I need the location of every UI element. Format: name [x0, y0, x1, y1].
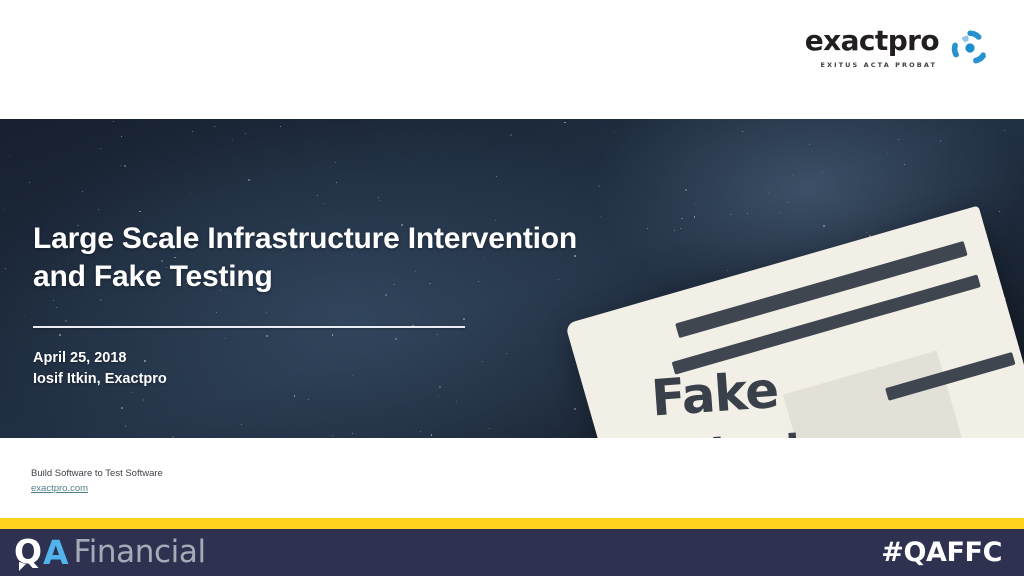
newspaper-headline-line1: Fake — [616, 367, 780, 424]
star-dot — [3, 209, 4, 210]
newspaper-headline: Testing! — [615, 428, 804, 438]
star-dot — [823, 225, 825, 227]
star-dot — [598, 185, 600, 187]
star-dot — [120, 165, 121, 166]
star-dot — [792, 175, 793, 176]
star-dot — [647, 228, 648, 229]
star-dot — [904, 164, 905, 165]
header-logo-strip: exactpro EXITUS ACTA PROBAT — [0, 0, 1024, 119]
star-dot — [245, 133, 246, 134]
star-dot — [564, 122, 565, 123]
event-hashtag: #QAFFC — [881, 537, 1002, 568]
event-footer-bar: Q A Financial #QAFFC — [0, 529, 1024, 576]
star-dot — [614, 131, 615, 132]
yellow-accent-stripe — [0, 518, 1024, 529]
exactpro-logo-tagline: EXITUS ACTA PROBAT — [820, 61, 937, 69]
title-divider-rule — [33, 326, 465, 328]
star-dot — [730, 214, 731, 215]
star-dot — [510, 134, 512, 136]
star-dot — [822, 172, 823, 173]
star-dot — [214, 126, 215, 127]
star-dot — [308, 399, 309, 400]
star-dot — [496, 176, 497, 177]
star-dot — [332, 435, 333, 436]
star-dot — [139, 211, 140, 212]
star-dot — [113, 121, 114, 122]
star-dot — [681, 218, 682, 219]
star-dot — [352, 433, 353, 434]
website-link[interactable]: exactpro.com — [31, 483, 88, 494]
star-dot — [9, 156, 10, 157]
star-dot — [336, 182, 337, 183]
star-dot — [378, 197, 379, 198]
star-dot — [172, 436, 174, 438]
star-dot — [124, 165, 126, 167]
page-title-line-1: Large Scale Infrastructure Intervention — [33, 222, 577, 255]
star-dot — [456, 401, 457, 402]
footer-note: Build Software to Test Software exactpro… — [31, 466, 163, 497]
exactpro-wordmark: exactpro EXITUS ACTA PROBAT — [805, 27, 939, 69]
hero-banner: Testing! Fake — [0, 119, 1024, 438]
presentation-date: April 25, 2018 — [33, 348, 633, 369]
star-dot — [780, 212, 781, 213]
star-dot — [866, 232, 867, 233]
star-dot — [5, 268, 6, 269]
star-dot — [694, 216, 695, 217]
star-dot — [248, 179, 250, 181]
star-dot — [317, 195, 318, 196]
star-dot — [431, 434, 432, 435]
star-dot — [999, 211, 1000, 212]
presenter-name: Iosif Itkin, Exactpro — [33, 369, 633, 390]
star-dot — [695, 203, 696, 204]
star-dot — [143, 399, 144, 400]
page-title-line-2: and Fake Testing — [33, 260, 273, 293]
exactpro-triskelion-icon — [948, 26, 992, 70]
star-dot — [809, 144, 810, 145]
qa-a-letter: A — [43, 536, 69, 569]
star-dot — [898, 139, 899, 140]
exactpro-logo: exactpro EXITUS ACTA PROBAT — [805, 26, 992, 70]
qa-financial-wordmark: Financial — [74, 537, 206, 568]
star-dot — [323, 203, 324, 204]
newspaper-headline-line2: Testing! — [615, 430, 803, 438]
newspaper-sheet: Testing! Fake — [565, 206, 1024, 438]
star-dot — [747, 213, 748, 214]
star-dot — [125, 425, 126, 426]
star-dot — [24, 315, 25, 316]
star-dot — [379, 200, 380, 201]
qa-financial-logo: Q A Financial — [14, 536, 206, 570]
star-dot — [788, 202, 789, 203]
star-dot — [489, 428, 490, 429]
star-dot — [121, 136, 122, 137]
star-dot — [241, 424, 242, 425]
star-dot — [98, 209, 99, 210]
star-dot — [1004, 130, 1005, 131]
star-dot — [232, 140, 233, 141]
star-dot — [600, 216, 601, 217]
presentation-meta: April 25, 2018 Iosif Itkin, Exactpro — [33, 348, 633, 389]
star-dot — [887, 153, 888, 154]
qa-q-letter-icon: Q — [14, 536, 44, 570]
star-dot — [294, 395, 295, 396]
star-dot — [192, 131, 193, 132]
star-dot — [685, 189, 687, 191]
hero-text-block: Large Scale Infrastructure Intervention … — [33, 220, 633, 389]
star-dot — [940, 140, 941, 141]
star-dot — [29, 182, 30, 183]
star-dot — [280, 126, 281, 127]
presentation-slide: exactpro EXITUS ACTA PROBAT — [0, 0, 1024, 576]
star-dot — [100, 148, 101, 149]
company-slogan: Build Software to Test Software — [31, 466, 163, 481]
star-dot — [742, 131, 743, 132]
newspaper-headline-main: Fake — [616, 367, 780, 424]
star-dot — [438, 396, 439, 397]
star-dot — [680, 228, 681, 229]
star-dot — [335, 162, 336, 163]
star-dot — [768, 192, 769, 193]
page-title: Large Scale Infrastructure Intervention … — [33, 220, 633, 296]
star-dot — [674, 230, 675, 231]
svg-text:Q: Q — [14, 536, 42, 571]
star-dot — [82, 191, 83, 192]
star-dot — [420, 431, 421, 432]
star-dot — [121, 407, 123, 409]
exactpro-logo-text: exactpro — [805, 27, 939, 55]
star-dot — [190, 193, 191, 194]
star-dot — [132, 392, 133, 393]
